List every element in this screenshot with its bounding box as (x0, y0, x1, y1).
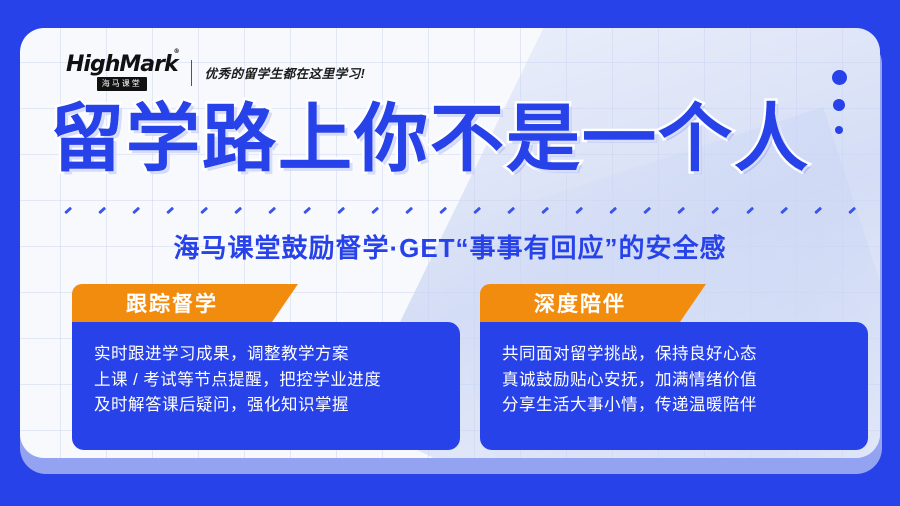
slash-dash (644, 206, 652, 213)
logo-registered-mark: ® (174, 49, 180, 55)
slash-dash (405, 206, 413, 213)
card-body-line: 共同面对留学挑战，保持良好心态 (502, 342, 846, 368)
card-body-line: 分享生活大事小情，传递温暖陪伴 (502, 393, 846, 419)
slash-dash (814, 206, 822, 213)
slash-dash (848, 206, 856, 213)
card-heading-banner: 跟踪督学 (72, 284, 272, 322)
card-heading-text: 深度陪伴 (534, 288, 626, 318)
slash-dash (201, 206, 209, 213)
card-body: 实时跟进学习成果，调整教学方案 上课 / 考试等节点提醒，把控学业进度 及时解答… (72, 322, 460, 450)
brand-tagline: 优秀的留学生都在这里学习! (205, 63, 366, 82)
dashed-slash-divider (64, 204, 856, 216)
slash-dash (303, 206, 311, 213)
dot-large (832, 70, 847, 85)
dot-medium (833, 99, 845, 111)
slash-dash (269, 206, 277, 213)
logo-wordmark-text: HighMark (66, 52, 178, 77)
content-panel: HighMark ® 海马课堂 优秀的留学生都在这里学习! 留学路上你不是一个人… (20, 28, 880, 458)
slash-dash (780, 206, 788, 213)
card-heading-text: 跟踪督学 (126, 288, 218, 318)
slash-dash (132, 206, 140, 213)
slash-dash (337, 206, 345, 213)
slash-dash (609, 206, 617, 213)
slash-dash (678, 206, 686, 213)
decorative-dot-column (822, 70, 856, 134)
slash-dash (575, 206, 583, 213)
slash-dash (98, 206, 106, 213)
card-body: 共同面对留学挑战，保持良好心态 真诚鼓励贴心安抚，加满情绪价值 分享生活大事小情… (480, 322, 868, 450)
slash-dash (371, 206, 379, 213)
card-body-line: 真诚鼓励贴心安抚，加满情绪价值 (502, 368, 846, 394)
poster-canvas: HighMark ® 海马课堂 优秀的留学生都在这里学习! 留学路上你不是一个人… (0, 0, 900, 506)
card-body-line: 实时跟进学习成果，调整教学方案 (94, 342, 438, 368)
header-divider (191, 60, 192, 86)
dot-small (835, 126, 843, 134)
slash-dash (507, 206, 515, 213)
feature-card-list: 跟踪督学 实时跟进学习成果，调整教学方案 上课 / 考试等节点提醒，把控学业进度… (72, 284, 868, 450)
logo-chinese-name: 海马课堂 (97, 77, 147, 91)
slash-dash (64, 206, 72, 213)
card-body-line: 上课 / 考试等节点提醒，把控学业进度 (94, 368, 438, 394)
brand-header: HighMark ® 海马课堂 优秀的留学生都在这里学习! (66, 54, 365, 91)
card-heading-banner: 深度陪伴 (480, 284, 680, 322)
slash-dash (541, 206, 549, 213)
slash-dash (746, 206, 754, 213)
slash-dash (473, 206, 481, 213)
logo: HighMark ® 海马课堂 (66, 54, 178, 91)
logo-wordmark: HighMark ® (66, 54, 178, 76)
slash-dash (166, 206, 174, 213)
slash-dash (439, 206, 447, 213)
slash-dash (235, 206, 243, 213)
feature-card-companionship: 深度陪伴 共同面对留学挑战，保持良好心态 真诚鼓励贴心安抚，加满情绪价值 分享生… (480, 284, 868, 450)
hero-subtitle: 海马课堂鼓励督学·GET“事事有回应”的安全感 (20, 228, 880, 265)
card-body-line: 及时解答课后疑问，强化知识掌握 (94, 393, 438, 419)
hero-title-fill: 留学路上你不是一个人 (50, 102, 870, 176)
feature-card-tracking: 跟踪督学 实时跟进学习成果，调整教学方案 上课 / 考试等节点提醒，把控学业进度… (72, 284, 460, 450)
slash-dash (712, 206, 720, 213)
